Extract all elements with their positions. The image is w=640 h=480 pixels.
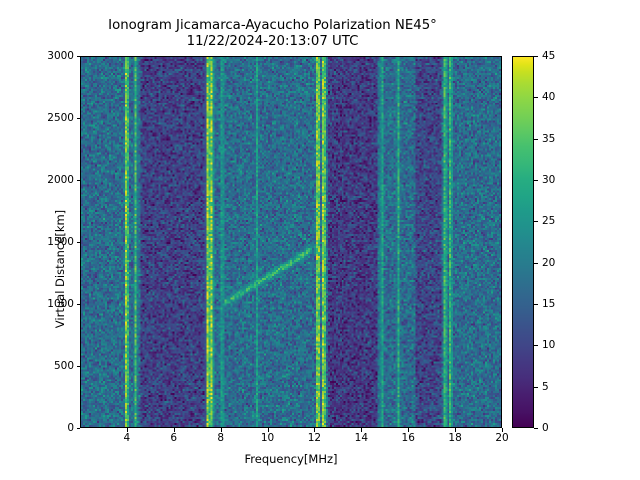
y-tick: [77, 56, 81, 57]
x-tick-label: 10: [261, 432, 274, 444]
colorbar-tick: [534, 428, 538, 429]
colorbar-tick-label: 15: [542, 298, 555, 310]
x-tick: [268, 428, 269, 432]
chart-title-line1: Ionogram Jicamarca-Ayacucho Polarization…: [108, 18, 437, 33]
y-axis-label-wrap: Virtual Distance[km]: [22, 56, 23, 428]
x-tick-label: 16: [402, 432, 415, 444]
chart-title: Ionogram Jicamarca-Ayacucho Polarization…: [0, 18, 545, 50]
y-tick: [77, 180, 81, 181]
colorbar-tick: [534, 345, 538, 346]
y-tick-label: 0: [67, 422, 74, 434]
colorbar-tick-label: 0: [542, 422, 549, 434]
colorbar-tick: [534, 56, 538, 57]
colorbar-tick: [534, 180, 538, 181]
x-tick: [314, 428, 315, 432]
x-tick: [221, 428, 222, 432]
colorbar-tick: [534, 304, 538, 305]
colorbar-label-wrap: Power[dB]: [590, 56, 591, 428]
x-tick: [361, 428, 362, 432]
plot-area: [80, 56, 502, 428]
colorbar-tick-label: 45: [542, 50, 555, 62]
colorbar-tick-label: 25: [542, 215, 555, 227]
x-tick-label: 4: [124, 432, 131, 444]
y-tick-label: 3000: [47, 50, 74, 62]
colorbar-tick-label: 5: [542, 381, 549, 393]
x-tick-label: 6: [170, 432, 177, 444]
y-tick: [77, 118, 81, 119]
x-tick: [174, 428, 175, 432]
colorbar-tick-label: 40: [542, 91, 555, 103]
x-tick-label: 18: [448, 432, 461, 444]
x-tick-label: 8: [217, 432, 224, 444]
colorbar: [512, 56, 534, 428]
x-tick: [502, 428, 503, 432]
colorbar-tick: [534, 263, 538, 264]
y-tick: [77, 428, 81, 429]
y-tick: [77, 304, 81, 305]
y-tick: [77, 366, 81, 367]
x-tick-label: 20: [495, 432, 508, 444]
colorbar-tick-label: 30: [542, 174, 555, 186]
ionogram-figure: Ionogram Jicamarca-Ayacucho Polarization…: [0, 0, 640, 480]
x-tick: [455, 428, 456, 432]
ionogram-heatmap: [81, 57, 501, 427]
x-tick: [127, 428, 128, 432]
x-tick: [408, 428, 409, 432]
x-axis-label: Frequency[MHz]: [80, 452, 502, 466]
colorbar-tick-label: 20: [542, 257, 555, 269]
colorbar-tick-label: 10: [542, 339, 555, 351]
colorbar-tick: [534, 97, 538, 98]
x-tick-label: 12: [308, 432, 321, 444]
y-axis-label: Virtual Distance[km]: [53, 83, 67, 455]
x-tick-label: 14: [355, 432, 368, 444]
colorbar-tick: [534, 387, 538, 388]
y-tick: [77, 242, 81, 243]
colorbar-tick: [534, 221, 538, 222]
chart-title-line2: 11/22/2024-20:13:07 UTC: [187, 34, 359, 49]
colorbar-tick: [534, 139, 538, 140]
colorbar-tick-label: 35: [542, 133, 555, 145]
